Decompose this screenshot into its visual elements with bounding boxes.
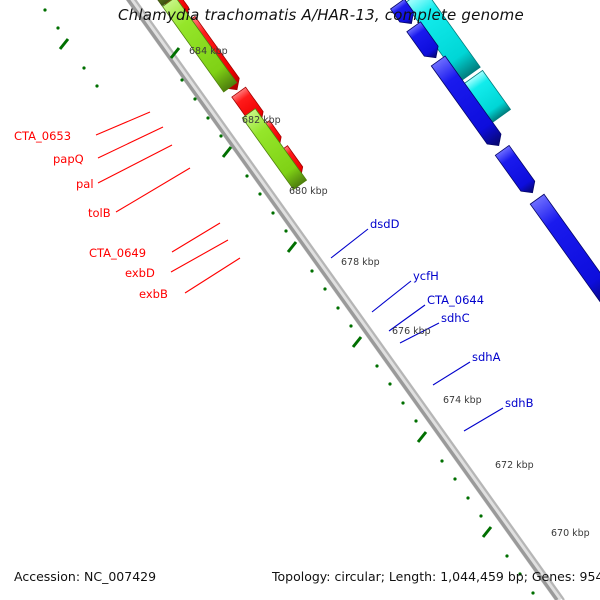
leader-line-CTA_0649 — [172, 223, 220, 252]
gene-label-tolB[interactable]: tolB — [88, 206, 111, 220]
leader-line-ycfH — [372, 281, 411, 312]
gene-label-CTA_0653[interactable]: CTA_0653 — [14, 129, 71, 143]
gene-label-sdhA[interactable]: sdhA — [472, 350, 500, 364]
ruler-tick-label-674: 674 kbp — [443, 395, 482, 406]
leader-line-tolB — [116, 168, 190, 212]
ruler-tick-label-680: 680 kbp — [289, 186, 328, 197]
gene-label-pal[interactable]: pal — [76, 177, 94, 191]
ruler-tick-label-670: 670 kbp — [551, 528, 590, 539]
genome-graphics-layer[interactable] — [0, 0, 600, 600]
leader-line-exbB — [185, 258, 240, 293]
gene-label-CTA_0644[interactable]: CTA_0644 — [427, 293, 484, 307]
gene-label-dsdD[interactable]: dsdD — [370, 217, 399, 231]
ruler-tick-label-684: 684 kbp — [189, 46, 228, 57]
gene-blue-2[interactable] — [359, 0, 401, 4]
gene-label-papQ[interactable]: papQ — [53, 152, 84, 166]
genome-viewer-canvas[interactable]: Chlamydia trachomatis A/HAR-13, complete… — [0, 0, 600, 600]
gene-label-sdhB[interactable]: sdhB — [505, 396, 533, 410]
gene-label-CTA_0649[interactable]: CTA_0649 — [89, 246, 146, 260]
accession-status: Accession: NC_007429 — [14, 569, 156, 584]
label-leader-lines-left — [96, 112, 240, 293]
leader-line-papQ — [98, 127, 163, 158]
gene-blue-7[interactable] — [530, 194, 600, 308]
leader-line-sdhB — [464, 408, 503, 431]
leader-line-dsdD — [331, 229, 368, 258]
leader-line-sdhA — [433, 362, 470, 385]
gene-label-exbD[interactable]: exbD — [125, 266, 155, 280]
ruler-tick-label-682: 682 kbp — [242, 115, 281, 126]
leader-line-exbD — [171, 240, 228, 272]
ruler-tick-label-672: 672 kbp — [495, 460, 534, 471]
genome-meta-status: Topology: circular; Length: 1,044,459 bp… — [272, 569, 600, 584]
leader-line-CTA_0653 — [96, 112, 150, 135]
leader-line-pal — [98, 145, 172, 183]
genome-title: Chlamydia trachomatis A/HAR-13, complete… — [118, 6, 524, 24]
gene-label-ycfH[interactable]: ycfH — [413, 269, 439, 283]
gene-label-exbB[interactable]: exbB — [139, 287, 168, 301]
ruler-tick-label-678: 678 kbp — [341, 257, 380, 268]
ruler-tick-label-676: 676 kbp — [392, 326, 431, 337]
gene-blue-6[interactable] — [495, 145, 539, 197]
gene-label-sdhC[interactable]: sdhC — [441, 311, 470, 325]
